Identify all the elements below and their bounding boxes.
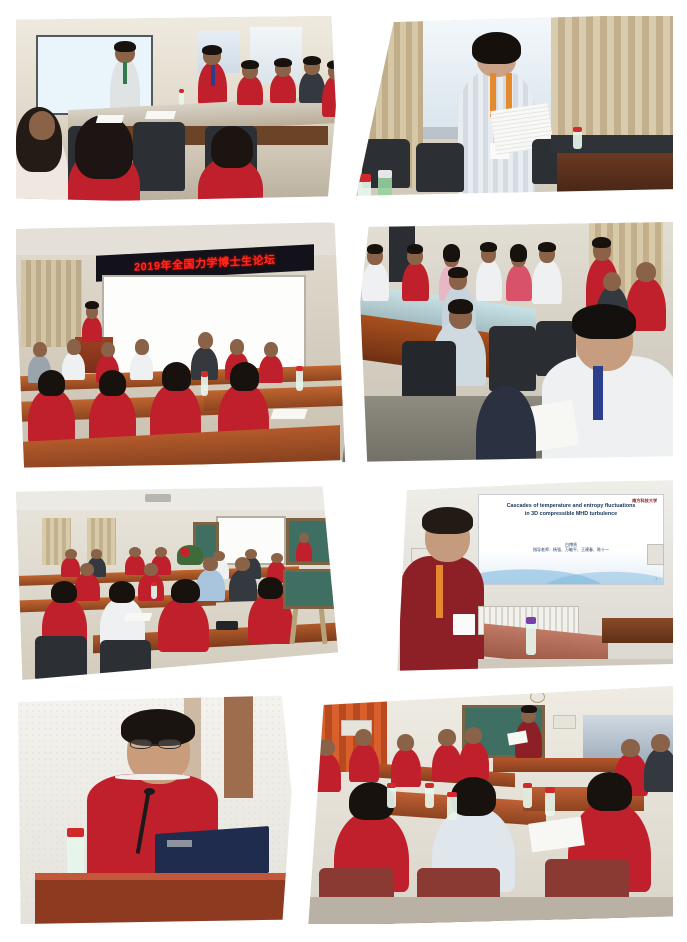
- event-banner-text: 2019年全国力学博士生论坛: [134, 251, 275, 274]
- slide-decorative-wave: [479, 554, 662, 584]
- presentation-slide: 南方科技大学 Cascades of temperature and entro…: [478, 494, 663, 585]
- collage-frame-left: [0, 0, 16, 942]
- slide-advisors: 指导老师：杨强、万敏平、王建春、陈十一: [498, 547, 645, 553]
- photo-lecture-hall-projection[interactable]: 2019年全国力学博士生论坛: [14, 214, 354, 470]
- slide-page-number: 1: [655, 576, 657, 581]
- slide-authors: 白博贤 指导老师：杨强、万敏平、王建春、陈十一: [498, 542, 645, 553]
- photo-roundtable-discussion[interactable]: [16, 16, 341, 206]
- photo-collage: 2019年全国力学博士生论坛: [0, 0, 687, 942]
- collage-frame-right: [673, 0, 687, 942]
- slide-title-line-2: in 3D compressible MHD turbulence: [490, 511, 651, 518]
- photo-woman-speaking-at-podium[interactable]: [352, 14, 673, 216]
- photo-student-presenting-at-lectern[interactable]: [18, 690, 304, 924]
- slide-title-line-1: Cascades of temperature and entropy fluc…: [490, 503, 651, 510]
- photo-seminar-room-session[interactable]: [296, 686, 674, 926]
- collage-frame-top: [0, 0, 687, 16]
- photo-classroom-presentation[interactable]: [16, 482, 338, 680]
- photo-speaker-with-slide[interactable]: 南方科技大学 Cascades of temperature and entro…: [394, 478, 675, 684]
- photo-seated-audience-listening[interactable]: [342, 222, 676, 470]
- slide-title: Cascades of temperature and entropy fluc…: [490, 503, 651, 518]
- collage-frame-bottom: [0, 924, 687, 942]
